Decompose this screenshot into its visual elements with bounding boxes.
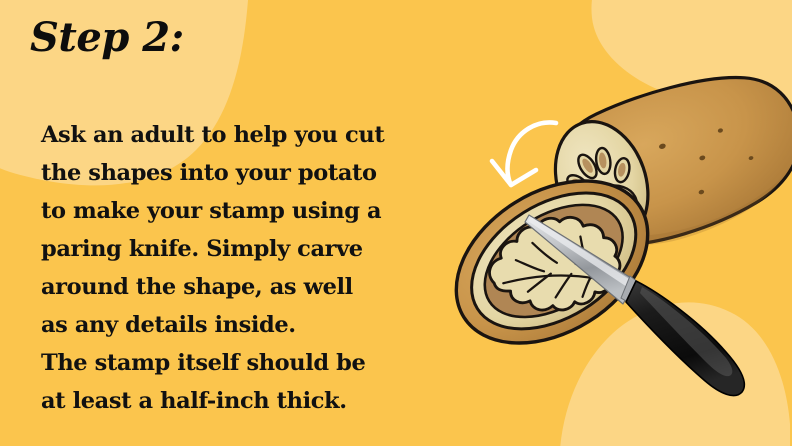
instruction-line: around the shape, as well bbox=[41, 268, 441, 306]
instruction-line: The stamp itself should be bbox=[41, 344, 441, 382]
page-title: Step 2: bbox=[30, 14, 184, 61]
text-layer: Step 2: Ask an adult to help you cut the… bbox=[0, 0, 792, 446]
instruction-line: Ask an adult to help you cut bbox=[41, 116, 441, 154]
instruction-line: as any details inside. bbox=[41, 306, 441, 344]
instruction-line: to make your stamp using a bbox=[41, 192, 441, 230]
slide-canvas: Step 2: Ask an adult to help you cut the… bbox=[0, 0, 792, 446]
instruction-paragraph: Ask an adult to help you cut the shapes … bbox=[41, 116, 441, 420]
instruction-line: paring knife. Simply carve bbox=[41, 230, 441, 268]
instruction-line: at least a half-inch thick. bbox=[41, 382, 441, 420]
instruction-line: the shapes into your potato bbox=[41, 154, 441, 192]
